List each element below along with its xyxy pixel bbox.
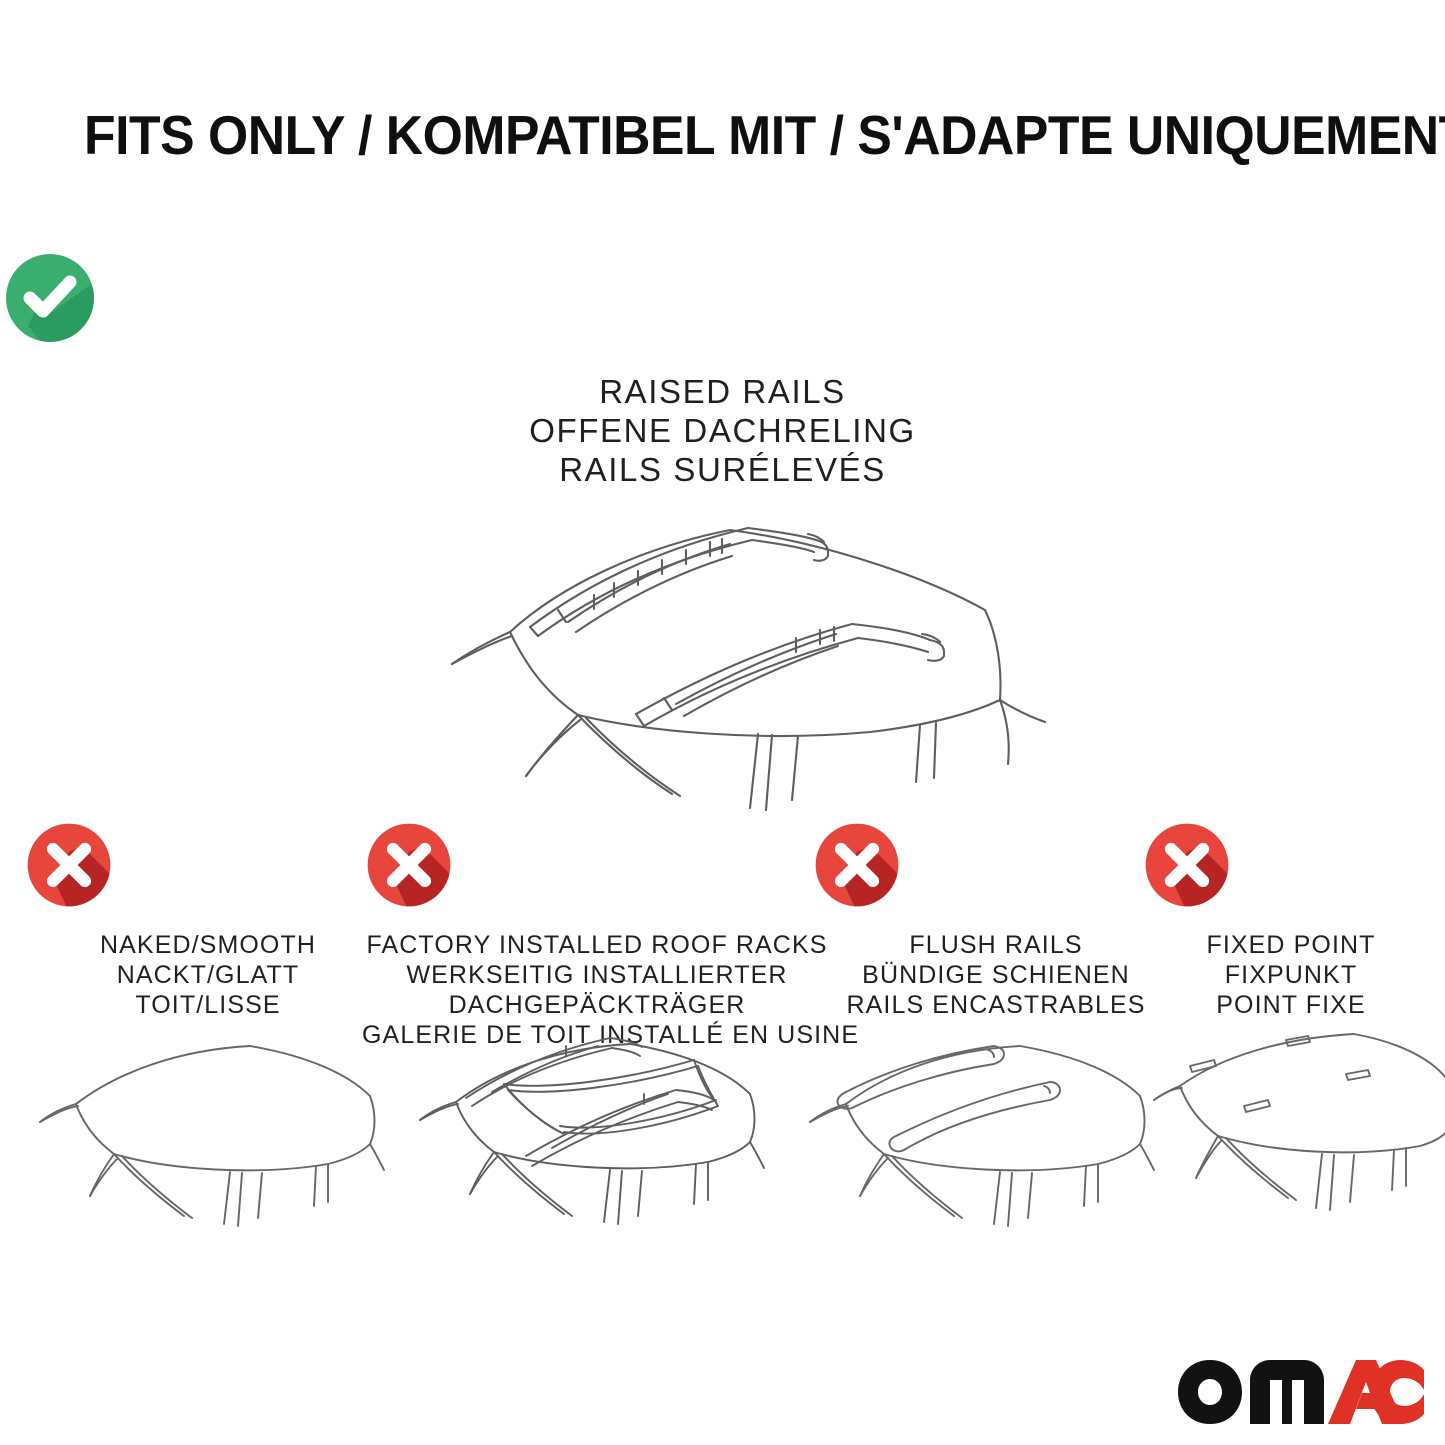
cross-circle-icon: [22, 818, 394, 912]
rejected-label-en: FLUSH RAILS: [810, 930, 1182, 960]
approved-label-block: RAISED RAILS OFFENE DACHRELING RAILS SUR…: [0, 372, 1445, 489]
rejected-label-en: NAKED/SMOOTH: [22, 930, 394, 960]
rejected-label-en: FACTORY INSTALLED ROOF RACKS: [362, 930, 832, 960]
check-circle-icon: [0, 248, 1445, 348]
rejected-label-de: BÜNDIGE SCHIENEN: [810, 960, 1182, 990]
omac-logo: [1176, 1358, 1426, 1426]
rejected-item-flush-rails: FLUSH RAILS BÜNDIGE SCHIENEN RAILS ENCAS…: [810, 818, 1182, 1020]
rejected-item-naked-smooth: NAKED/SMOOTH NACKT/GLATT TOIT/LISSE: [22, 818, 394, 1020]
car-roof-factory-racks-illustration: [398, 1002, 773, 1242]
rejected-label-en: FIXED POINT: [1140, 930, 1442, 960]
approved-label-de: OFFENE DACHRELING: [0, 411, 1445, 450]
rejected-label-block: FIXED POINT FIXPUNKT POINT FIXE: [1140, 930, 1442, 1020]
cross-circle-icon: [1140, 818, 1442, 912]
cross-circle-icon: [810, 818, 1182, 912]
rejected-label-de: FIXPUNKT: [1140, 960, 1442, 990]
approved-section: RAISED RAILS OFFENE DACHRELING RAILS SUR…: [0, 248, 1445, 489]
compatibility-infographic: FITS ONLY / KOMPATIBEL MIT / S'ADAPTE UN…: [0, 0, 1445, 1445]
car-roof-raised-rails-illustration: [400, 482, 1060, 812]
rejected-label-de-1: WERKSEITIG INSTALLIERTER: [362, 960, 832, 990]
rejected-label-de: NACKT/GLATT: [22, 960, 394, 990]
car-roof-fixed-point-illustration: [1148, 1012, 1445, 1242]
rejected-item-fixed-point: FIXED POINT FIXPUNKT POINT FIXE: [1140, 818, 1442, 1020]
car-roof-naked-smooth-illustration: [18, 1012, 388, 1242]
car-roof-flush-rails-illustration: [788, 1012, 1160, 1242]
approved-label-en: RAISED RAILS: [0, 372, 1445, 411]
cross-circle-icon: [362, 818, 832, 912]
rejected-label-block: FLUSH RAILS BÜNDIGE SCHIENEN RAILS ENCAS…: [810, 930, 1182, 1020]
rejected-label-block: NAKED/SMOOTH NACKT/GLATT TOIT/LISSE: [22, 930, 394, 1020]
page-title: FITS ONLY / KOMPATIBEL MIT / S'ADAPTE UN…: [84, 104, 1297, 166]
